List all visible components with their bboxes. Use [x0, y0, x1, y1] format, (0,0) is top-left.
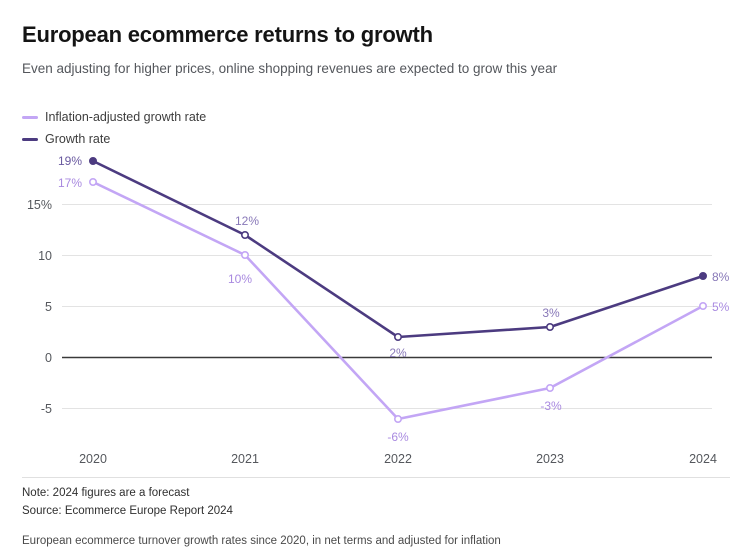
- line-chart-svg: 15% 10 5 0 -5 2020 2021 2022 2023 2024: [0, 0, 752, 500]
- x-axis-tick-labels: 2020 2021 2022 2023 2024: [79, 452, 717, 466]
- data-point-2021[interactable]: [242, 252, 248, 258]
- data-label-2024: 5%: [712, 300, 730, 314]
- data-label-2023: 3%: [542, 306, 560, 320]
- data-label-2024: 8%: [712, 270, 730, 284]
- y-tick-label-15: 15%: [27, 198, 52, 212]
- data-label-2020: 19%: [58, 154, 82, 168]
- x-tick-label-2020: 2020: [79, 452, 107, 466]
- data-label-2020: 17%: [58, 176, 82, 190]
- chart-page: European ecommerce returns to growth Eve…: [0, 0, 752, 557]
- y-tick-label-10: 10: [38, 249, 52, 263]
- data-point-2021[interactable]: [242, 232, 248, 238]
- chart-plot-area: 15% 10 5 0 -5 2020 2021 2022 2023 2024: [0, 0, 752, 500]
- data-label-2023: -3%: [540, 399, 562, 413]
- footer-caption: European ecommerce turnover growth rates…: [22, 533, 730, 549]
- data-point-2024[interactable]: [700, 273, 706, 279]
- x-tick-label-2023: 2023: [536, 452, 564, 466]
- y-axis-tick-labels: 15% 10 5 0 -5: [27, 198, 52, 416]
- data-point-2020[interactable]: [90, 179, 96, 185]
- footer-note-line-1: Note: 2024 figures are a forecast: [22, 487, 190, 499]
- y-tick-label-5: 5: [45, 300, 52, 314]
- data-point-2023[interactable]: [547, 324, 553, 330]
- series-line-inflation-adjusted: [93, 182, 703, 419]
- data-point-2022[interactable]: [395, 416, 401, 422]
- chart-footer: Note: 2024 figures are a forecast Source…: [22, 485, 730, 549]
- x-tick-label-2022: 2022: [384, 452, 412, 466]
- series-line-growth-rate: [93, 161, 703, 337]
- data-point-2022[interactable]: [395, 334, 401, 340]
- data-label-2021: 12%: [235, 214, 259, 228]
- series-growth-rate: 19% 12% 2% 3% 8%: [58, 154, 730, 360]
- x-tick-label-2024: 2024: [689, 452, 717, 466]
- data-point-2020[interactable]: [90, 158, 96, 164]
- data-label-2022: 2%: [389, 346, 407, 360]
- data-point-2024[interactable]: [700, 303, 706, 309]
- series-inflation-adjusted-growth-rate: 17% 10% -6% -3% 5%: [58, 176, 730, 444]
- footer-divider: [22, 477, 730, 478]
- y-tick-label-0: 0: [45, 351, 52, 365]
- footer-note: Note: 2024 figures are a forecast Source…: [22, 485, 730, 521]
- y-tick-label-minus5: -5: [41, 402, 52, 416]
- data-point-2023[interactable]: [547, 385, 553, 391]
- footer-source-line: Source: Ecommerce Europe Report 2024: [22, 505, 233, 517]
- data-label-2022: -6%: [387, 430, 409, 444]
- x-tick-label-2021: 2021: [231, 452, 259, 466]
- data-label-2021: 10%: [228, 272, 252, 286]
